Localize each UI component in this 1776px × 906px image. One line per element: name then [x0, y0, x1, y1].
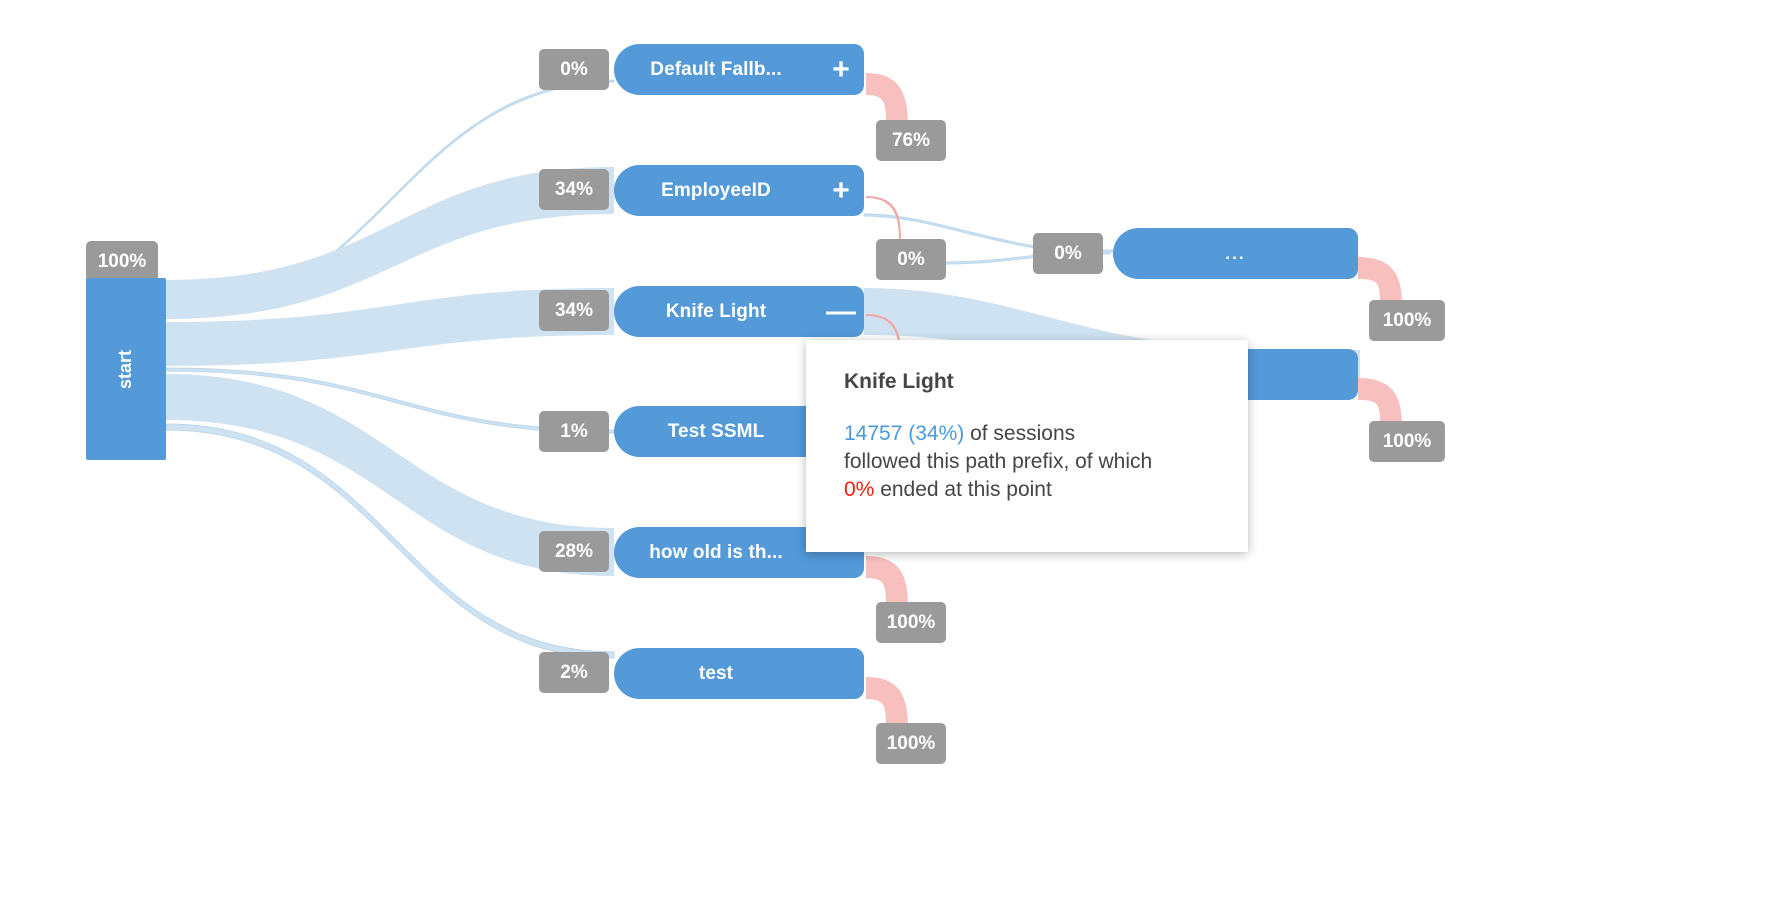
in-badge-employeeid[interactable]: 34% [539, 169, 609, 210]
expand-icon[interactable]: + [818, 176, 864, 206]
tooltip-title: Knife Light [844, 370, 1212, 394]
node-label: ... [1113, 244, 1358, 264]
in-badge-knife-light[interactable]: 34% [539, 290, 609, 331]
node-label: Default Fallb... [614, 59, 818, 81]
tooltip-line2: followed this path prefix, of which [844, 450, 1152, 473]
tooltip-body: 14757 (34%) of sessions followed this pa… [844, 420, 1212, 504]
path-flow-canvas: 100% start 0% 34% 34% 1% 28% 2% Default … [0, 0, 1776, 906]
in-badge-default-fallback[interactable]: 0% [539, 49, 609, 90]
start-node[interactable]: start [86, 278, 166, 460]
node-dots[interactable]: ... [1113, 228, 1358, 279]
node-default-fallback[interactable]: Default Fallb... + [614, 44, 864, 95]
node-tooltip: Knife Light 14757 (34%) of sessions foll… [806, 340, 1248, 552]
node-label: test [614, 663, 818, 685]
node-label: EmployeeID [614, 180, 818, 202]
in-badge-test-ssml[interactable]: 1% [539, 411, 609, 452]
tooltip-end-percent: 0% [844, 478, 874, 501]
dropoff-badge-employeeid[interactable]: 0% [876, 239, 946, 280]
in-badge-test[interactable]: 2% [539, 652, 609, 693]
dropoff-badge-default-fallback[interactable]: 76% [876, 120, 946, 161]
dropoff-badge-level3-b[interactable]: 100% [1369, 421, 1445, 462]
tooltip-line1-rest: of sessions [964, 422, 1075, 445]
node-label: Knife Light [614, 301, 818, 323]
dropoff-badge-how-old[interactable]: 100% [876, 602, 946, 643]
node-knife-light[interactable]: Knife Light — [614, 286, 864, 337]
node-employeeid[interactable]: EmployeeID + [614, 165, 864, 216]
in-badge-dots-node[interactable]: 0% [1033, 233, 1103, 274]
tooltip-line3-rest: ended at this point [874, 478, 1051, 501]
node-label: Test SSML [614, 421, 818, 443]
collapse-icon[interactable]: — [818, 297, 864, 327]
node-test[interactable]: test [614, 648, 864, 699]
dropoff-badge-dots-node[interactable]: 100% [1369, 300, 1445, 341]
in-badge-how-old[interactable]: 28% [539, 531, 609, 572]
start-badge[interactable]: 100% [86, 241, 158, 282]
node-label: how old is th... [614, 542, 818, 564]
tooltip-count: 14757 (34%) [844, 422, 964, 445]
start-node-label: start [115, 349, 136, 388]
expand-icon[interactable]: + [818, 55, 864, 85]
dropoff-badge-test[interactable]: 100% [876, 723, 946, 764]
